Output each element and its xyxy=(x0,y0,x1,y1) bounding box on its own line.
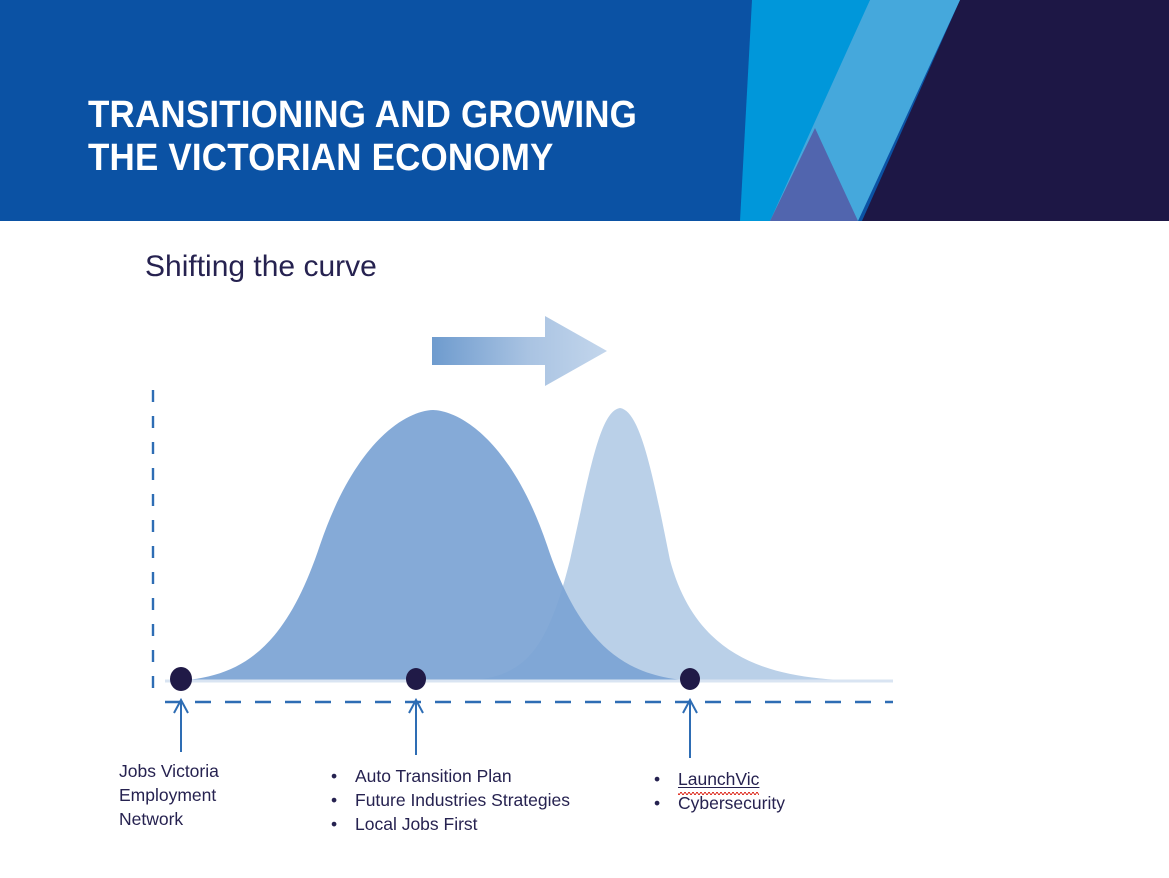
callout-text-launchvic: LaunchVic xyxy=(678,769,759,789)
curve-shifted xyxy=(452,408,882,681)
callout-jobs-victoria: Jobs Victoria Employment Network xyxy=(119,759,309,831)
list-item: LaunchVic xyxy=(650,767,900,791)
slide-header-band: TRANSITIONING AND GROWING THE VICTORIAN … xyxy=(0,0,1169,221)
callout-text: Jobs Victoria xyxy=(119,761,219,781)
list-item: Future Industries Strategies xyxy=(327,788,627,812)
list-item: Employment xyxy=(119,783,309,807)
list-item: Local Jobs First xyxy=(327,812,627,836)
marker-launchvic xyxy=(680,668,700,690)
callout-transition-programs: Auto Transition Plan Future Industries S… xyxy=(327,764,627,836)
marker-auto-transition xyxy=(406,668,426,690)
callout-growth-programs: LaunchVic Cybersecurity xyxy=(650,767,900,815)
callout-arrows xyxy=(174,700,697,758)
list-item: Network xyxy=(119,807,309,831)
callout-text: Future Industries Strategies xyxy=(355,790,570,810)
callout-text: Auto Transition Plan xyxy=(355,766,512,786)
callout-text: Local Jobs First xyxy=(355,814,478,834)
list-item: Jobs Victoria xyxy=(119,759,309,783)
rightward-shift-arrow xyxy=(432,316,607,386)
page-title: TRANSITIONING AND GROWING THE VICTORIAN … xyxy=(88,94,695,180)
presentation-slide: TRANSITIONING AND GROWING THE VICTORIAN … xyxy=(0,0,1169,878)
callout-arrow-middle xyxy=(409,700,423,755)
callout-text: Network xyxy=(119,809,183,829)
callout-text: Employment xyxy=(119,785,216,805)
list-item: Cybersecurity xyxy=(650,791,900,815)
callout-text: Cybersecurity xyxy=(678,793,785,813)
section-subtitle: Shifting the curve xyxy=(145,248,377,286)
list-item: Auto Transition Plan xyxy=(327,764,627,788)
marker-jobs-victoria xyxy=(170,667,192,691)
callout-arrow-left xyxy=(174,700,188,752)
curve-current xyxy=(165,410,705,681)
victoria-government-v-logo xyxy=(740,0,1169,221)
callout-arrow-right xyxy=(683,700,697,758)
